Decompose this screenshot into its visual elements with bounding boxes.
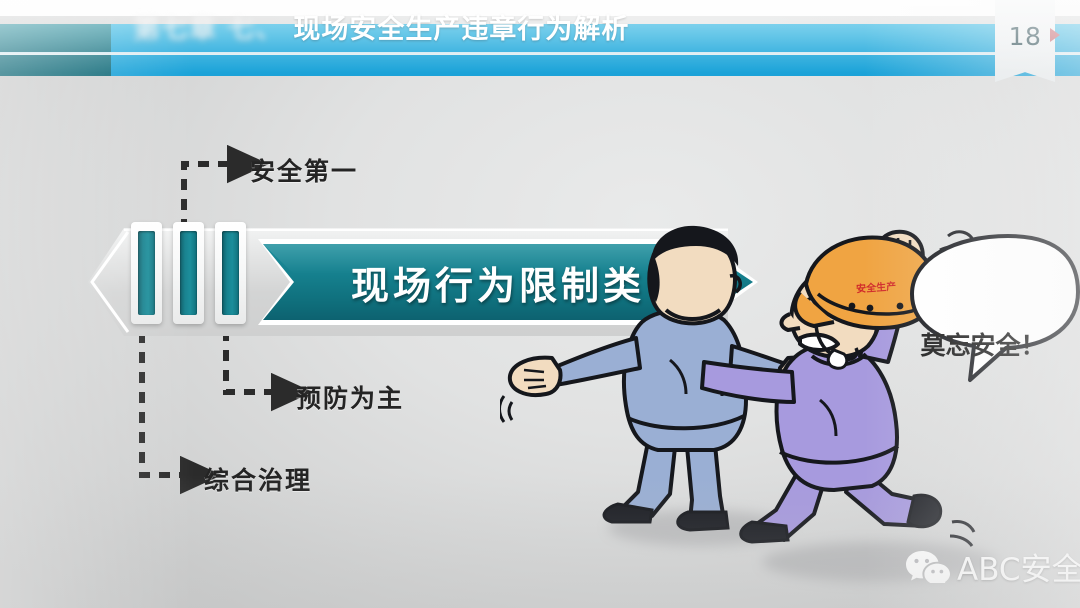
banner-bar-3-fill [222, 231, 239, 315]
banner-bar-2-fill [180, 231, 197, 315]
watermark-label: ABC安全 [957, 544, 1080, 589]
banner-bar-1-fill [138, 231, 155, 315]
watermark: ABC安全 [905, 546, 1080, 586]
page-title: 第七章 七、 现场安全生产违章行为解析 [133, 0, 629, 52]
branch-label-1: 安全第一 [250, 152, 358, 188]
branch-label-3: 综合治理 [204, 461, 312, 497]
page-number: 18 [995, 0, 1055, 72]
page-title-blurred-prefix: 第七章 七、 [133, 7, 283, 46]
branch-label-2: 预防为主 [296, 379, 404, 415]
banner-bar-2 [173, 222, 204, 324]
banner-bar-3 [215, 222, 246, 324]
speech-bubble-text: 莫忘安全！ [918, 322, 1048, 366]
wechat-icon [905, 549, 951, 583]
banner-left-chevron-icon [88, 228, 132, 336]
header-underline [0, 52, 1080, 55]
slide-canvas: 第七章 七、 现场安全生产违章行为解析 18 [0, 0, 1080, 608]
page-title-text: 现场安全生产违章行为解析 [293, 7, 629, 46]
header-left-block [0, 24, 111, 76]
banner-bar-1 [131, 222, 162, 324]
